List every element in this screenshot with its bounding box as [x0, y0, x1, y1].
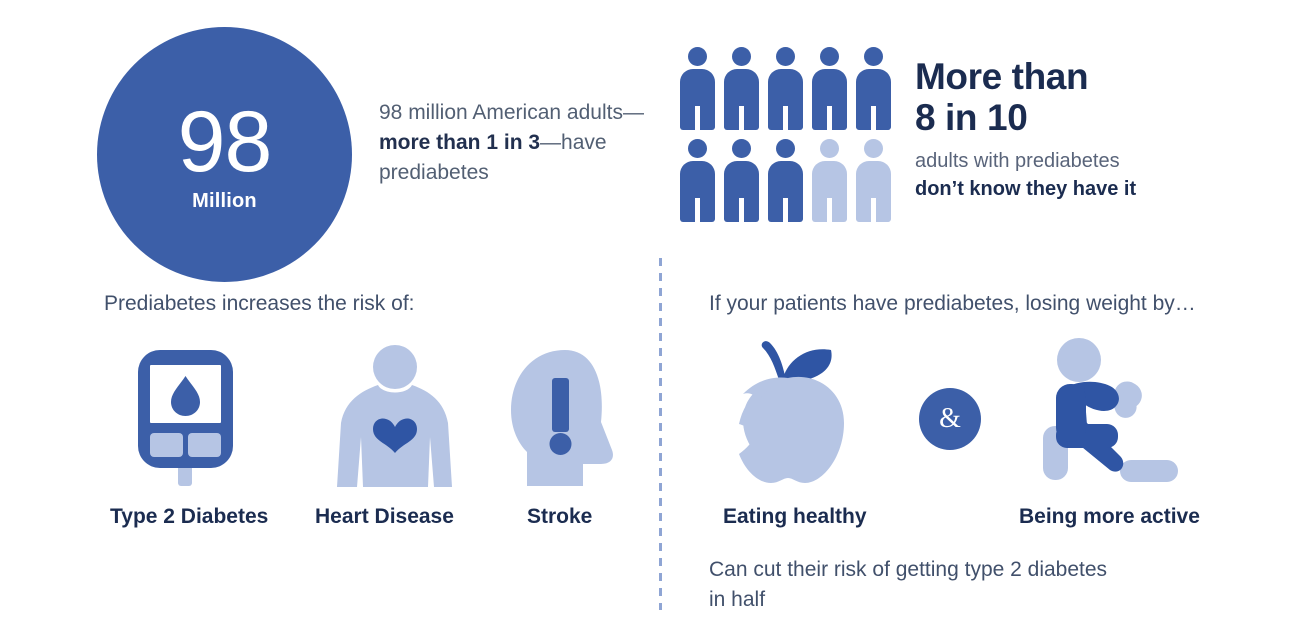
person-head-icon: [820, 47, 839, 66]
people-row-top: [679, 47, 901, 130]
head-exclamation-icon: [505, 348, 640, 493]
person-head-icon: [688, 139, 707, 158]
person-icon-muted: [811, 139, 848, 222]
people-pictogram: [679, 47, 901, 231]
person-leg-gap: [783, 198, 788, 222]
stat-circle-98-million: 98 Million: [97, 27, 352, 282]
person-head-icon: [820, 139, 839, 158]
people-headline-line2: 8 in 10: [915, 97, 1215, 138]
people-subtext-bold: don’t know they have it: [915, 176, 1215, 202]
glucose-meter-icon: [130, 348, 260, 493]
person-icon: [811, 47, 848, 130]
person-leg-gap: [739, 106, 744, 130]
person-icon: [767, 139, 804, 222]
person-icon: [679, 139, 716, 222]
stat-unit-label: Million: [192, 190, 257, 213]
person-leg-gap: [827, 106, 832, 130]
action-closing-text: Can cut their risk of getting type 2 dia…: [709, 555, 1179, 615]
person-head-icon: [732, 139, 751, 158]
people-headline: More than 8 in 10: [915, 56, 1215, 139]
ampersand-badge: &: [919, 388, 981, 450]
vertical-dashed-divider: [659, 258, 662, 610]
risk-label-heart-disease: Heart Disease: [315, 505, 454, 529]
risk-section-heading: Prediabetes increases the risk of:: [104, 292, 415, 316]
torso-heart-icon: [333, 345, 458, 495]
action-closing-line2: in half: [709, 585, 1179, 615]
person-leg-gap: [783, 106, 788, 130]
people-stat-text: More than 8 in 10 adults with prediabete…: [915, 56, 1215, 202]
person-leg-gap: [827, 198, 832, 222]
person-exercising-icon: [1036, 338, 1186, 488]
person-icon: [723, 47, 760, 130]
person-leg-gap: [871, 198, 876, 222]
person-icon: [855, 47, 892, 130]
person-head-icon: [864, 139, 883, 158]
action-label-eating-healthy: Eating healthy: [723, 505, 867, 529]
person-icon: [679, 47, 716, 130]
person-head-icon: [688, 47, 707, 66]
stat-description-emphasis: more than 1 in 3: [379, 131, 540, 154]
person-head-icon: [732, 47, 751, 66]
person-head-icon: [776, 139, 795, 158]
person-head-icon: [864, 47, 883, 66]
apple-bitten-icon: [713, 338, 863, 491]
person-icon-muted: [855, 139, 892, 222]
action-section-heading: If your patients have prediabetes, losin…: [709, 292, 1196, 316]
person-leg-gap: [695, 106, 700, 130]
person-leg-gap: [739, 198, 744, 222]
stat-number: 98: [178, 102, 272, 184]
people-headline-line1: More than: [915, 56, 1215, 97]
people-row-bottom: [679, 139, 901, 222]
stat-description: 98 million American adults—more than 1 i…: [379, 98, 659, 187]
person-icon: [723, 139, 760, 222]
action-label-being-more-active: Being more active: [1019, 505, 1200, 529]
stat-description-part1: 98 million American adults—: [379, 101, 644, 124]
person-leg-gap: [695, 198, 700, 222]
risk-label-stroke: Stroke: [527, 505, 592, 529]
person-leg-gap: [871, 106, 876, 130]
person-head-icon: [776, 47, 795, 66]
people-subtext-light: adults with prediabetes: [915, 148, 1215, 174]
person-icon: [767, 47, 804, 130]
action-closing-line1: Can cut their risk of getting type 2 dia…: [709, 555, 1179, 585]
prediabetes-infographic: 98 Million 98 million American adults—mo…: [0, 0, 1293, 623]
risk-label-type-2-diabetes: Type 2 Diabetes: [110, 505, 268, 529]
